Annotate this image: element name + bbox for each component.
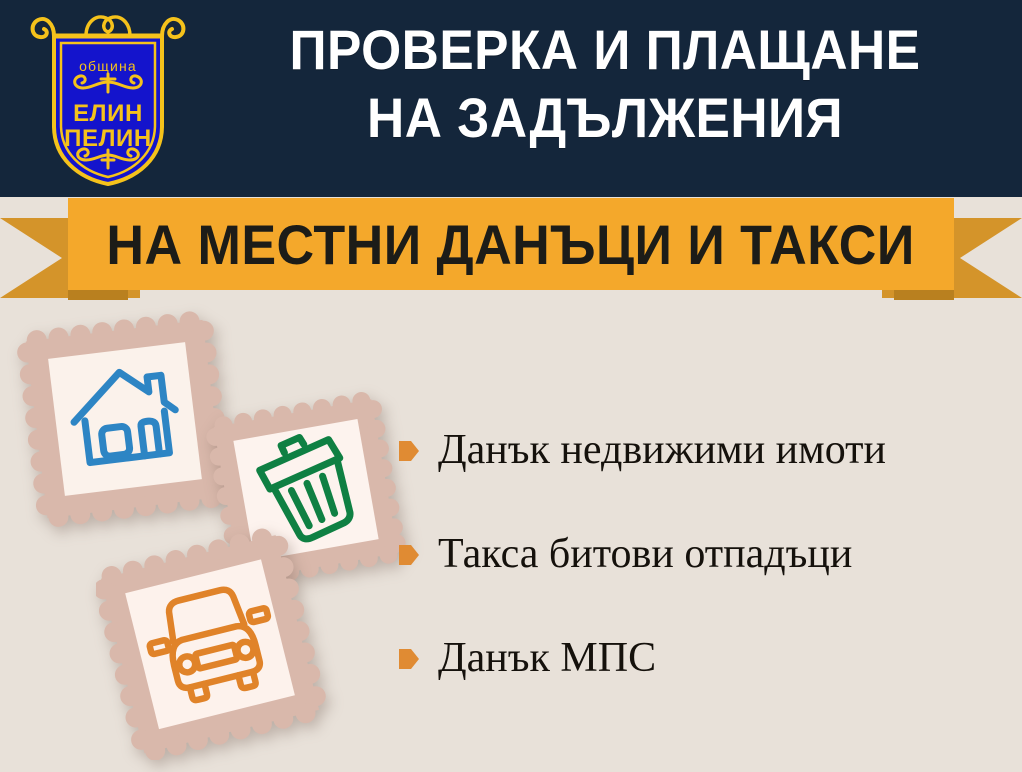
svg-text:община: община [79, 58, 137, 74]
stamp-card-property [14, 306, 236, 532]
svg-text:ПЕЛИН: ПЕЛИН [64, 125, 152, 152]
poster-root: община ЕЛИН ПЕЛИН [0, 0, 1022, 772]
tax-types-list: Данък недвижими имоти Такса битови отпад… [398, 424, 1018, 684]
municipality-logo: община ЕЛИН ПЕЛИН [28, 8, 188, 190]
arrow-bullet-icon [398, 439, 420, 463]
page-title-line-1: ПРОВЕРКА И ПЛАЩАНЕ [290, 18, 921, 81]
arrow-bullet-icon [398, 543, 420, 567]
header-bar: община ЕЛИН ПЕЛИН [0, 0, 1022, 197]
list-item[interactable]: Данък МПС [398, 632, 1018, 684]
list-item-label: Такса битови отпадъци [438, 532, 852, 576]
ribbon-banner: НА МЕСТНИ ДАНЪЦИ И ТАКСИ [0, 196, 1022, 308]
arrow-bullet-icon [398, 647, 420, 671]
list-item[interactable]: Данък недвижими имоти [398, 424, 1018, 476]
list-item-label: Данък недвижими имоти [438, 428, 886, 472]
ribbon-label: НА МЕСТНИ ДАНЪЦИ И ТАКСИ [107, 212, 915, 277]
ribbon-plate: НА МЕСТНИ ДАНЪЦИ И ТАКСИ [68, 198, 954, 290]
page-title: ПРОВЕРКА И ПЛАЩАНЕ НА ЗАДЪЛЖЕНИЯ [229, 16, 982, 153]
list-item[interactable]: Такса битови отпадъци [398, 528, 1018, 580]
svg-text:ЕЛИН: ЕЛИН [73, 100, 143, 127]
page-title-line-2: НА ЗАДЪЛЖЕНИЯ [229, 84, 982, 152]
stamp-card-vehicle [96, 528, 326, 760]
list-item-label: Данък МПС [438, 636, 656, 680]
